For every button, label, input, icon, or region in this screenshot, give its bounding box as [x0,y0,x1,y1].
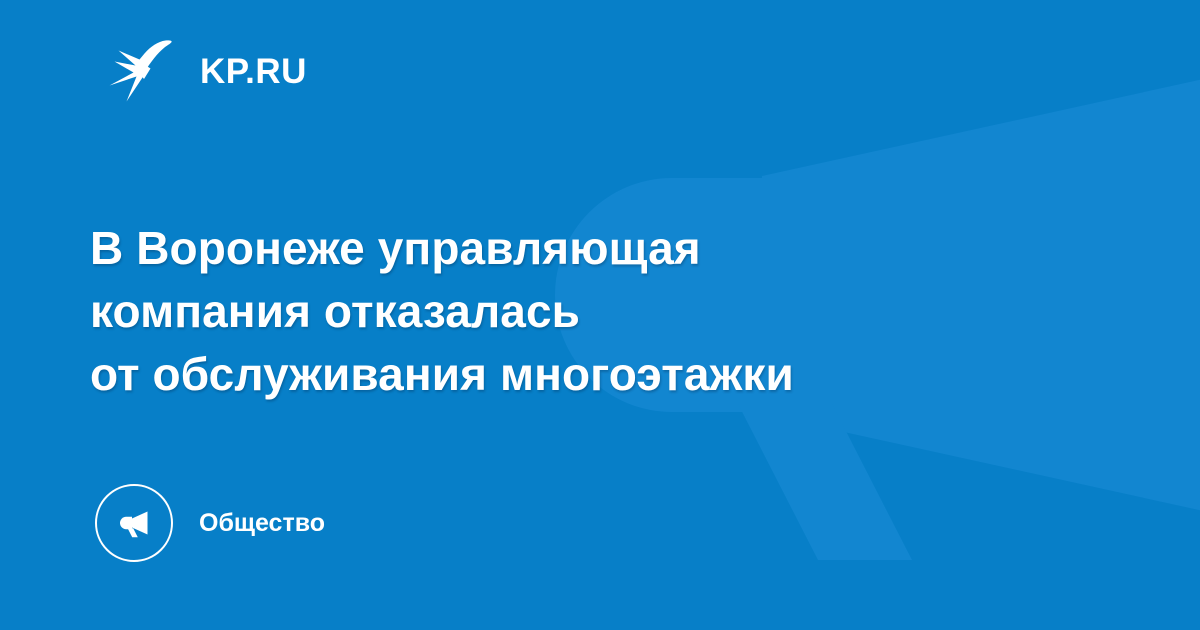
megaphone-icon [95,484,173,562]
social-share-card: KP.RU В Воронеже управляющая компания от… [0,0,1200,630]
headline-line-2: компания отказалась [90,280,1050,343]
category-label: Общество [199,511,325,536]
swallow-bird-icon [106,38,178,104]
headline: В Воронеже управляющая компания отказала… [90,217,1050,406]
brand-name-label: KP.RU [200,54,307,89]
category-badge[interactable]: Общество [95,484,325,562]
brand-logo[interactable]: KP.RU [106,38,307,104]
headline-line-3: от обслуживания многоэтажки [90,343,1050,406]
headline-line-1: В Воронеже управляющая [90,217,1050,280]
